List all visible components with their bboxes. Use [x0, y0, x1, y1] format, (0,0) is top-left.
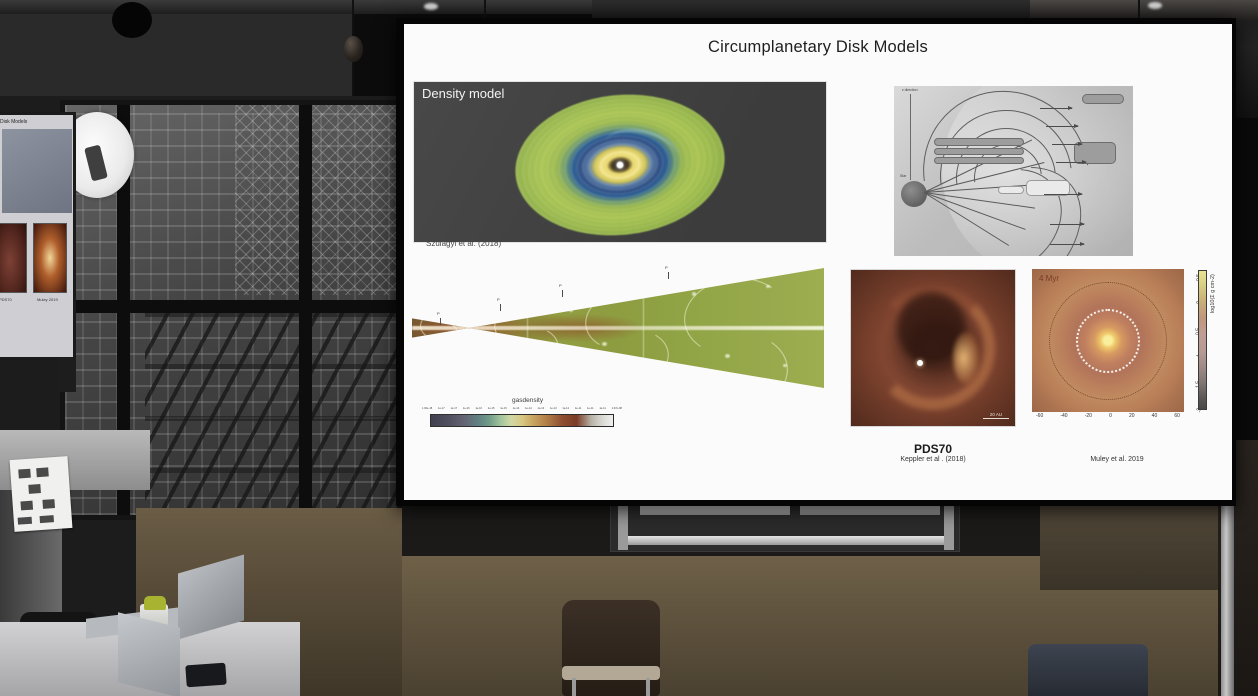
muley-colorbar: [1198, 270, 1207, 410]
colorbar-tick: 1.00e-18: [422, 407, 432, 410]
muley-x-tick: 60: [1174, 413, 1180, 419]
window-mullion-horizontal: [65, 300, 397, 313]
water-bottle-cap: [144, 596, 166, 610]
schematic-label-box: [998, 186, 1024, 194]
gasdensity-colorbar-ticks: 1.00e-181e-171e-171e-161e-161e-151e-151e…: [422, 407, 622, 410]
schematic-arrow: [1050, 224, 1084, 225]
fire-escape-stairs: [145, 305, 407, 525]
mount-rail: [640, 506, 790, 515]
colorbar-tick: 1e-13: [538, 407, 545, 410]
schematic-label-box: [934, 148, 1024, 155]
mount-rail: [618, 536, 948, 545]
room-scene: Disk Models PDS70 Muley 2019: [0, 0, 1258, 696]
side-monitor[interactable]: Disk Models PDS70 Muley 2019: [0, 112, 76, 360]
presentation-slide[interactable]: Circumplanetary Disk Models Density mode…: [404, 24, 1232, 500]
slide-title: Circumplanetary Disk Models: [404, 38, 1232, 57]
colorbar-tick: 1e-15: [500, 407, 507, 410]
colorbar-tick: 1e-11: [587, 407, 593, 410]
muley-x-axis-ticks: -60-40-200204060: [1032, 413, 1184, 419]
smartphone[interactable]: [185, 663, 226, 688]
ceiling-soffit-right: [1030, 0, 1258, 20]
meridional-slice-panel: P P P P: [412, 268, 824, 388]
density-model-label: Density model: [422, 86, 504, 101]
ceiling-light-icon: [1148, 2, 1162, 9]
schematic-arrow: [1044, 194, 1082, 195]
schematic-arrow: [1040, 108, 1072, 109]
schematic-arrow: [1052, 144, 1082, 145]
muley-colorbar-label: log10(Σ g cm-2): [1210, 274, 1216, 313]
window-mesh: [235, 105, 410, 295]
colorbar-tick: 1e-13: [550, 407, 557, 410]
schematic-arrow: [1056, 162, 1086, 163]
muley-x-tick: -20: [1085, 413, 1092, 419]
muley-outer-dotted-ring: [1049, 282, 1167, 400]
muley-simulation-panel: 4 Myr -60-40-200204060 0.50-0.5-1-1.5-2 …: [1032, 269, 1222, 439]
colorbar-tick: 1e-12: [562, 407, 569, 410]
vortex-blob: [569, 309, 573, 312]
gasdensity-colorbar: [430, 414, 614, 427]
muley-surface-density-map: 4 Myr: [1032, 269, 1184, 412]
colorbar-tick: 1e-17: [438, 407, 445, 410]
gasdensity-colorbar-label: gasdensity: [512, 397, 543, 404]
muley-credit: Muley et al. 2019: [1032, 456, 1202, 463]
poster-on-sill: [10, 456, 73, 532]
muley-x-tick: 0: [1109, 413, 1112, 419]
muley-x-tick: 40: [1152, 413, 1158, 419]
pds70-bright-arc: [953, 332, 979, 384]
colorbar-tick: 1e-14: [513, 407, 520, 410]
schematic-label-box: [934, 157, 1024, 164]
side-monitor-pds-image: [0, 223, 27, 293]
mount-post: [944, 502, 954, 550]
mount-post: [618, 502, 628, 550]
density-model-panel: Density model: [413, 81, 827, 243]
laptop-screen-front[interactable]: [118, 612, 180, 696]
pds70-scalebar: 20 AU: [983, 412, 1009, 420]
colorbar-tick: 1e-11: [599, 407, 605, 410]
schematic-axis-label: z direction: [902, 88, 917, 92]
schematic-label-box: [934, 138, 1024, 146]
side-monitor-slide-image: [2, 129, 72, 213]
colorbar-tick: 1.07e-08: [612, 407, 622, 410]
schematic-star: [901, 181, 927, 207]
schematic-label-box: [1082, 94, 1124, 104]
wedge-tick: P: [562, 290, 563, 297]
vortex-blob: [540, 297, 545, 301]
side-monitor-stand: [58, 358, 76, 392]
vortex-blob: [783, 364, 787, 367]
chair-blue: [1028, 644, 1148, 696]
muley-x-tick: -60: [1036, 413, 1043, 419]
streamline: [527, 294, 528, 352]
schematic-star-label: Star: [900, 174, 906, 178]
colorbar-tick: 1e-17: [450, 407, 457, 410]
colorbar-tick: 1e-11: [575, 407, 581, 410]
schematic-axis: [910, 94, 911, 180]
colorbar-tick: 1e-15: [488, 407, 495, 410]
side-monitor-muley-image: [33, 223, 67, 293]
pds70-caption: PDS70: [850, 442, 1016, 456]
vortex-blob: [511, 304, 515, 307]
pds70-scalebar-label: 20 AU: [983, 412, 1009, 417]
colorbar-tick: 1e-14: [525, 407, 532, 410]
gas-density-wedge: [412, 268, 824, 388]
muley-time-label: 4 Myr: [1039, 274, 1059, 283]
muley-x-tick: 20: [1129, 413, 1135, 419]
schematic-arrow: [1050, 244, 1084, 245]
szulagyi-credit: Szulagyi et al. (2018): [426, 239, 501, 248]
pendant-lamp-icon: [344, 36, 363, 62]
wedge-tick: P: [440, 318, 441, 325]
side-monitor-title: Disk Models: [0, 119, 27, 125]
colorbar-tick: 1e-16: [463, 407, 470, 410]
wedge-tick: P: [668, 272, 669, 279]
pds70-observation-image: 20 AU: [850, 269, 1016, 427]
muley-x-tick: -40: [1060, 413, 1067, 419]
streamline: [643, 282, 644, 362]
schematic-arrow: [1046, 126, 1078, 127]
side-monitor-caption-left: PDS70: [0, 297, 12, 302]
ceiling-light-icon: [424, 3, 438, 10]
ceiling-speaker-hole: [112, 2, 152, 38]
disk-wind-schematic: z direction Star: [894, 86, 1133, 256]
wedge-tick: P: [500, 304, 501, 311]
chair-wooden: [562, 600, 660, 696]
colorbar-tick: 1e-16: [475, 407, 482, 410]
side-monitor-caption-right: Muley 2019: [37, 297, 58, 302]
keppler-credit: Keppler et al . (2018): [840, 456, 1026, 463]
